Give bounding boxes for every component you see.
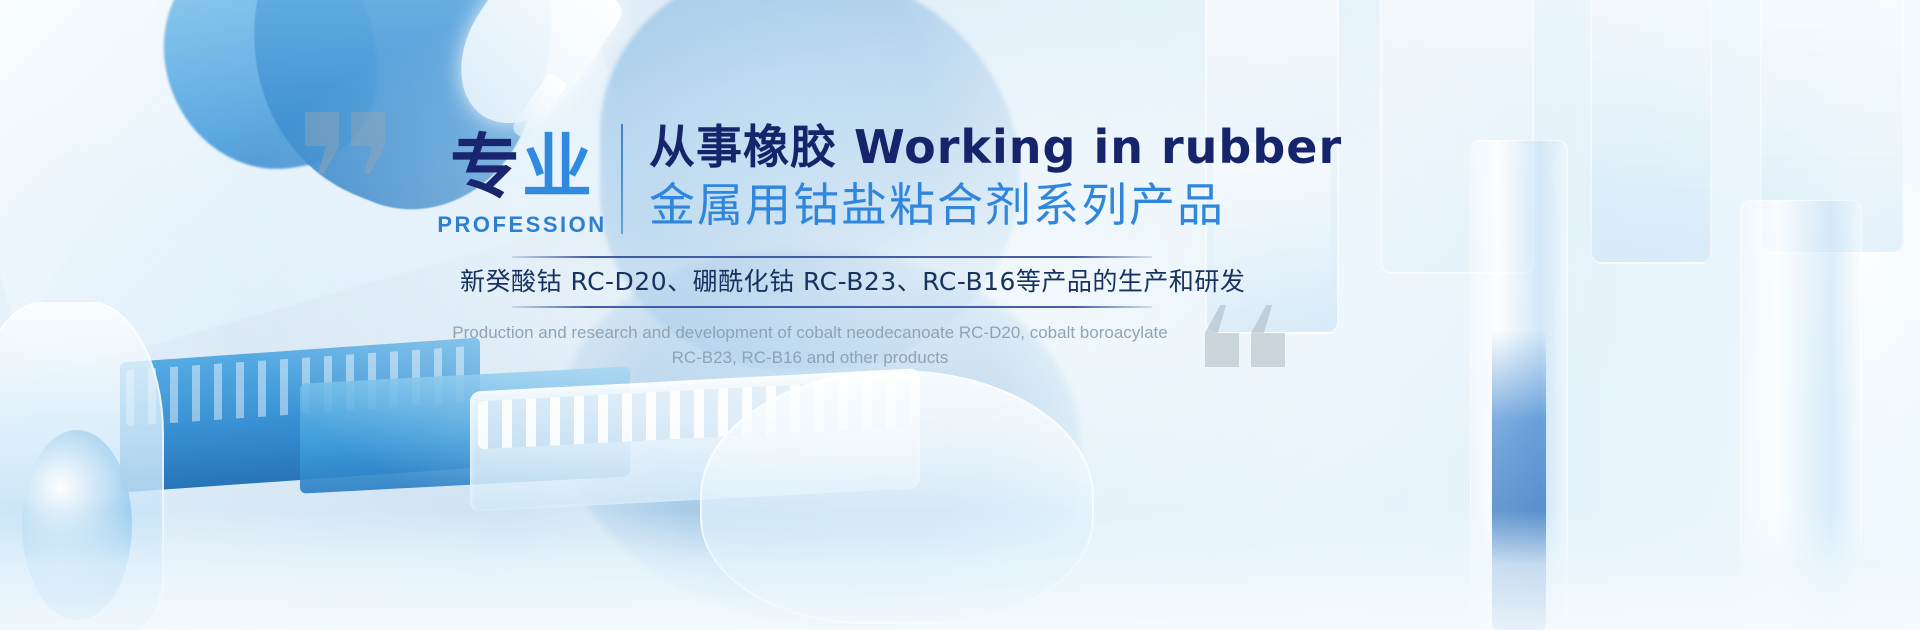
product-description: 新癸酸钴 RC-D20、硼酰化钴 RC-B23、RC-B16等产品的生产和研发 <box>460 262 1160 302</box>
subtitle-english-line1: Production and research and development … <box>452 323 1167 342</box>
vertical-divider <box>621 124 623 234</box>
logo-char-ye: 业 <box>522 126 594 208</box>
banner-content: 专业 PROFESSION 从事橡胶 Working in rubber 金属用… <box>0 0 1920 630</box>
logo-chinese: 专业 <box>450 128 594 206</box>
subtitle-english-line2: RC-B23, RC-B16 and other products <box>440 345 1180 370</box>
divider-above-product <box>512 256 1152 258</box>
headline-row: 专业 PROFESSION 从事橡胶 Working in rubber 金属用… <box>447 118 1342 238</box>
headline-primary: 从事橡胶 Working in rubber <box>649 118 1342 176</box>
subtitle-english: Production and research and development … <box>440 320 1180 370</box>
logo-english: PROFESSION <box>437 212 606 238</box>
divider-below-product <box>512 306 1152 308</box>
logo-char-zhuan: 专 <box>450 126 522 208</box>
hero-banner: 专业 PROFESSION 从事橡胶 Working in rubber 金属用… <box>0 0 1920 630</box>
titles-group: 从事橡胶 Working in rubber 金属用钴盐粘合剂系列产品 <box>649 118 1342 234</box>
headline-secondary: 金属用钴盐粘合剂系列产品 <box>649 176 1342 234</box>
profession-logo: 专业 PROFESSION <box>447 118 597 238</box>
